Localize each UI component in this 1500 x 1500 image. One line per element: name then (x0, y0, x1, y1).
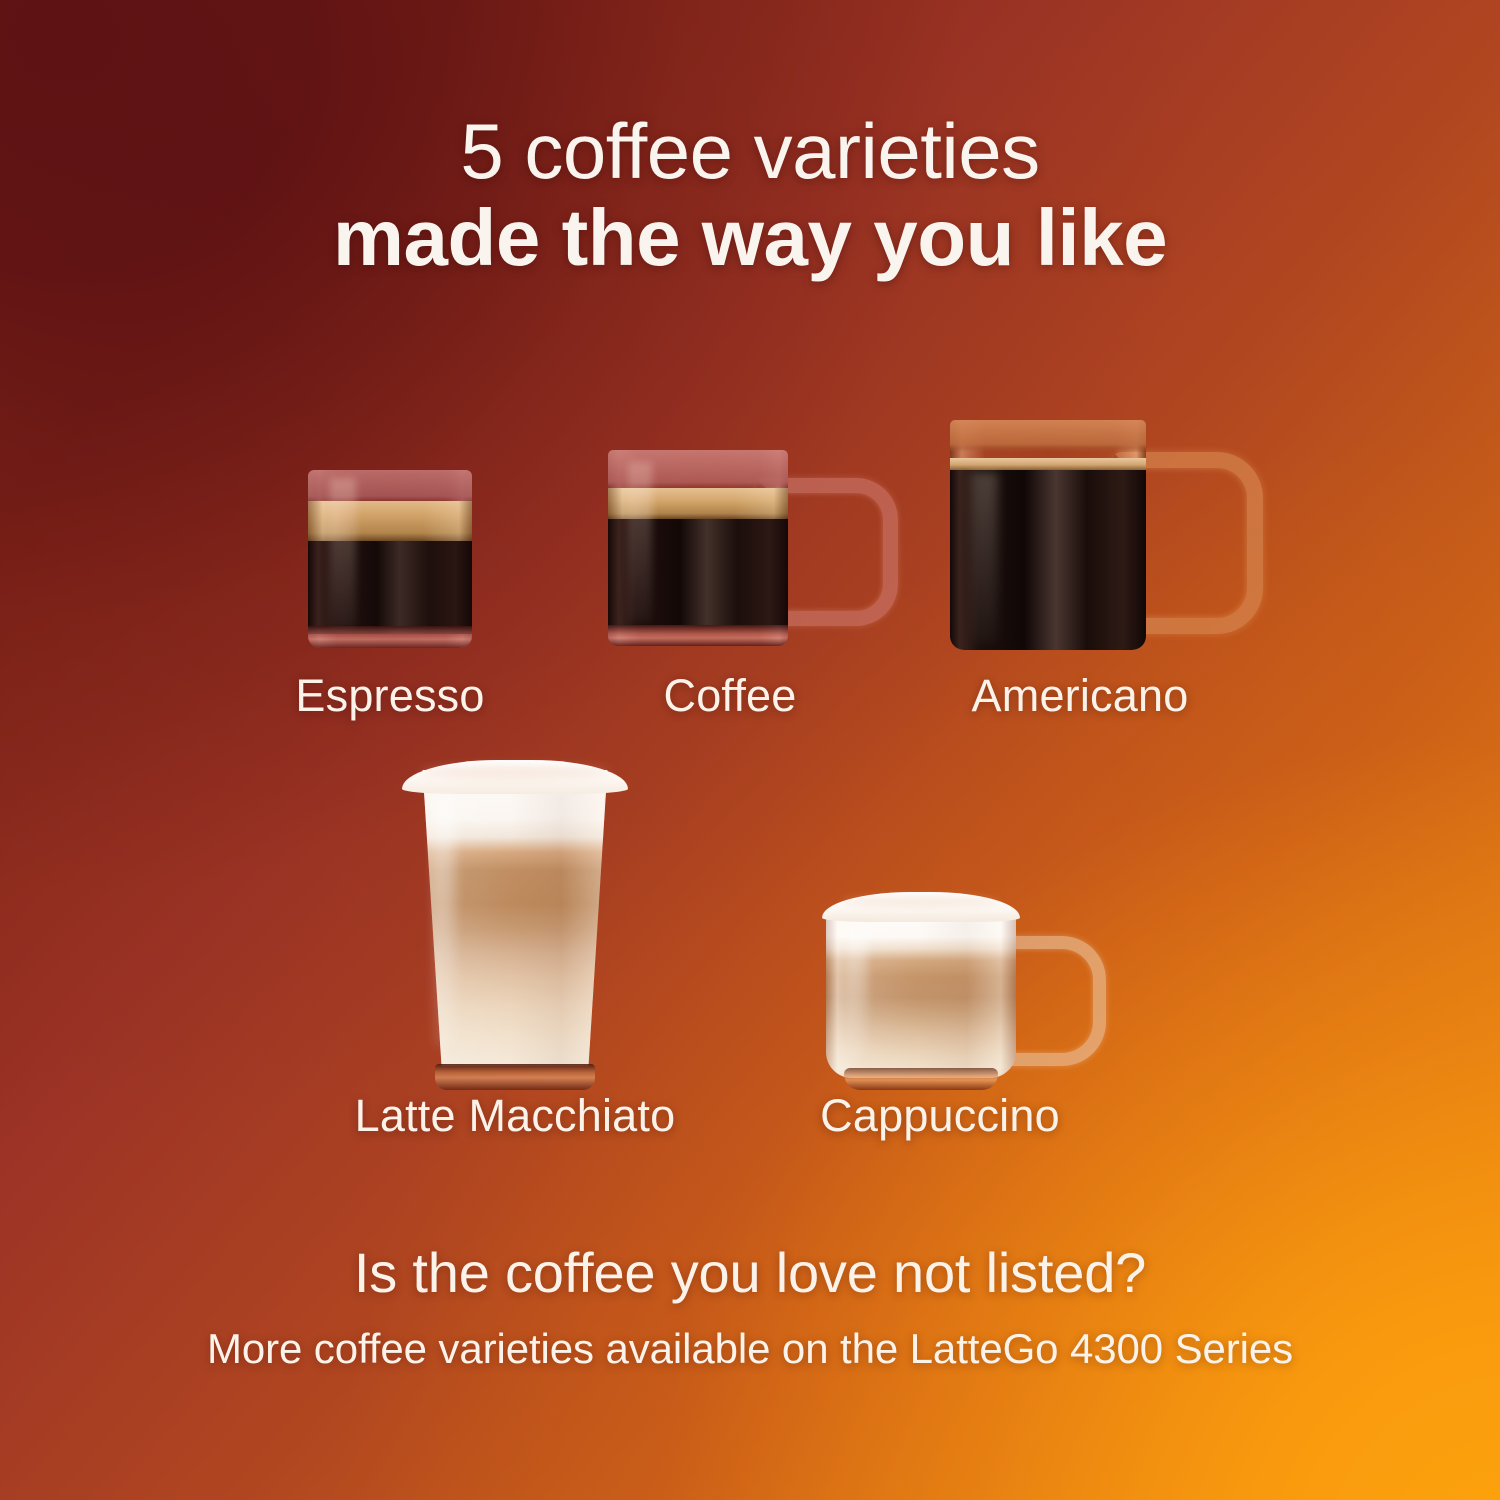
coffee-mug-icon (560, 440, 900, 670)
coffee-mug-highlight (628, 462, 652, 622)
americano-mug-highlight (972, 472, 998, 642)
espresso-glass-highlight (330, 478, 356, 628)
variety-item-americano: Americano (895, 420, 1265, 722)
latte-macchiato-glass-icon (330, 770, 700, 1090)
espresso-glass-icon (245, 470, 535, 670)
promo-image: 5 coffee varieties made the way you like… (0, 0, 1500, 1500)
footer-question: Is the coffee you love not listed? (0, 1240, 1500, 1305)
variety-item-coffee: Coffee (560, 440, 900, 722)
variety-label-espresso: Espresso (245, 670, 535, 722)
latte-milk-foam-top (402, 760, 628, 794)
coffee-mug-body (608, 450, 788, 646)
latte-glass-base (435, 1064, 595, 1090)
cappuccino-cup-highlight (848, 930, 868, 1058)
cappuccino-milk-foam-top (822, 892, 1020, 922)
variety-label-coffee: Coffee (560, 670, 900, 722)
variety-label-latte-macchiato: Latte Macchiato (330, 1090, 700, 1142)
espresso-glass-body (308, 470, 472, 648)
americano-mug-icon (895, 420, 1265, 670)
variety-item-latte-macchiato: Latte Macchiato (330, 770, 700, 1142)
headline-line-2: made the way you like (0, 196, 1500, 281)
espresso-glass-base (308, 626, 472, 648)
cappuccino-cup-base (844, 1068, 998, 1090)
coffee-mug-base (608, 625, 788, 646)
americano-mug-body (950, 420, 1146, 650)
variety-label-cappuccino: Cappuccino (760, 1090, 1120, 1142)
americano-crema-layer (950, 458, 1146, 470)
footer-subtext: More coffee varieties available on the L… (0, 1325, 1500, 1373)
variety-item-cappuccino: Cappuccino (760, 890, 1120, 1142)
variety-item-espresso: Espresso (245, 470, 535, 722)
variety-label-americano: Americano (895, 670, 1265, 722)
latte-glass-highlight (434, 796, 456, 1046)
cappuccino-cup-icon (760, 890, 1120, 1090)
headline-line-1: 5 coffee varieties (0, 110, 1500, 193)
